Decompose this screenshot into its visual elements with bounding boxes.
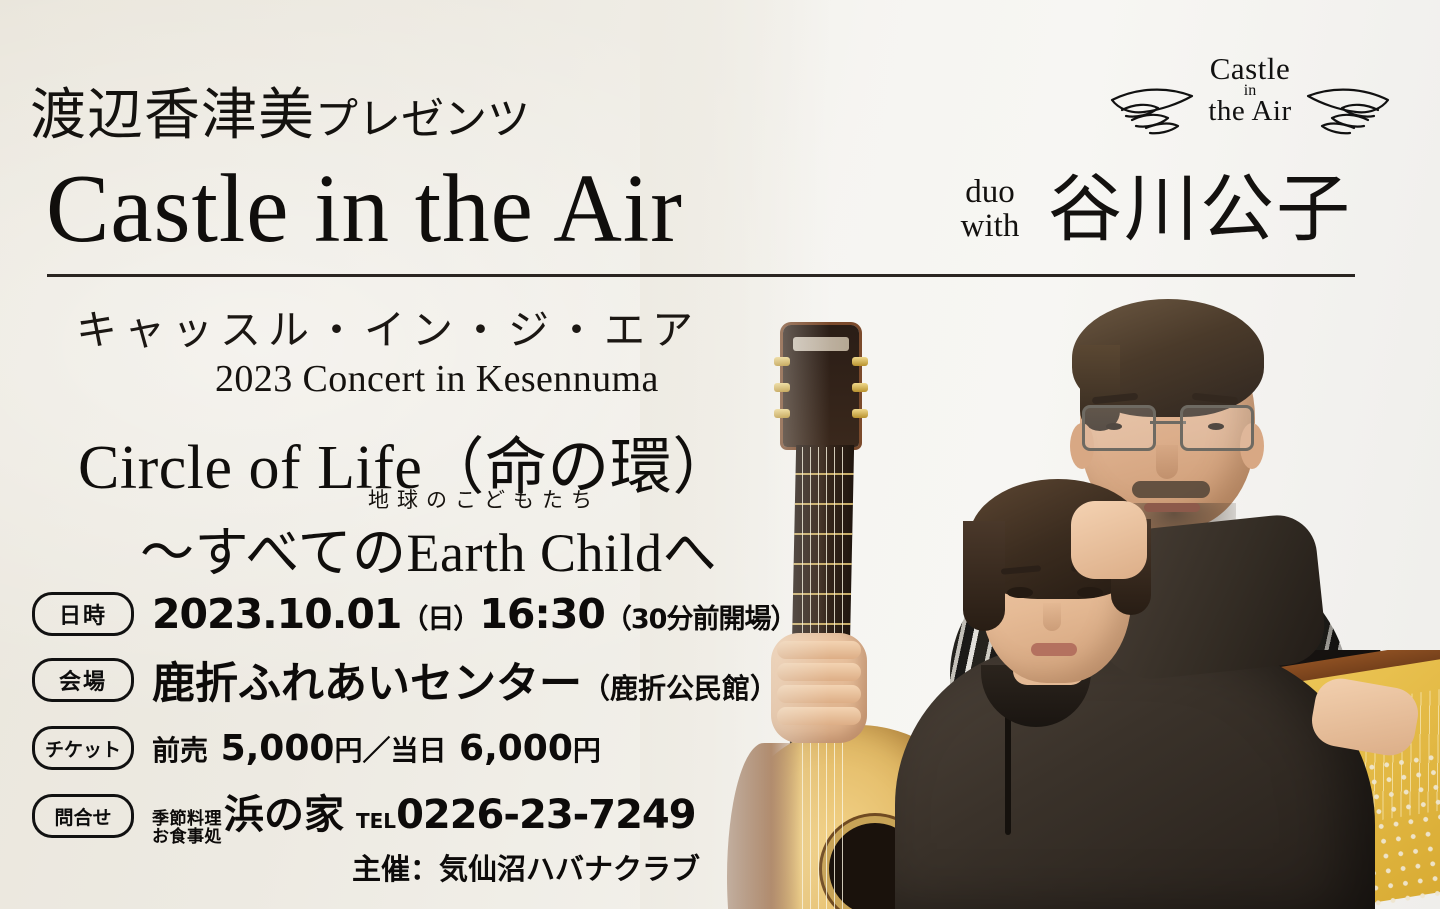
venue-value: 鹿折ふれあいセンター（鹿折公民館） (152, 649, 778, 711)
organizer-line: 主催：気仙沼ハバナクラブ (352, 846, 700, 888)
advance-yen: 円／ (334, 734, 390, 767)
door-price: 6,000 (459, 728, 573, 769)
concert-subtitle: 2023 Concert in Kesennuma (215, 357, 659, 401)
detail-row-venue: 会場 鹿折ふれあいセンター（鹿折公民館） (32, 656, 752, 704)
event-details: 日時 2023.10.01（日）16:30（30分前開場） 会場 鹿折ふれあいセ… (32, 592, 752, 842)
door-label: 当日 (390, 734, 446, 767)
detail-row-ticket: チケット 前売 5,000円／当日 6,000円 (32, 726, 752, 770)
door-yen: 円 (573, 734, 601, 767)
shop-descriptor-line2: お食事処 (152, 827, 222, 847)
label-ticket: チケット (32, 726, 134, 770)
shop-name: 浜の家 (224, 782, 344, 840)
shop-descriptor-line1: 季節料理 (152, 809, 222, 829)
date-text: 2023.10.01 (152, 590, 401, 638)
castle-logo-text: Castle in the Air (1185, 55, 1315, 125)
label-venue: 会場 (32, 658, 134, 702)
date-time: 16:30 (479, 590, 605, 638)
phone-number[interactable]: 0226-23-7249 (396, 792, 696, 838)
label-date: 日時 (32, 592, 134, 636)
date-weekday: （日） (401, 604, 479, 635)
presenter-line: 渡辺香津美プレゼンツ (30, 70, 530, 151)
duo-with-label: duo with (948, 176, 1032, 243)
advance-price: 5,000 (221, 728, 335, 769)
presents-suffix: プレゼンツ (315, 97, 530, 144)
logo-line-castle: Castle (1185, 55, 1315, 84)
program-subtitle: 〜すべてのEarth Childへ (140, 508, 717, 587)
advance-label: 前売 (152, 734, 208, 767)
date-doors-note: （30分前開場） (605, 604, 797, 635)
venue-name: 鹿折ふれあいセンター (152, 659, 582, 709)
contact-value: 季節料理 お食事処 浜の家 TEL 0226-23-7249 (152, 782, 696, 851)
venue-alt-name: （鹿折公民館） (582, 672, 778, 705)
shop-descriptor: 季節料理 お食事処 (152, 810, 222, 847)
concert-poster: 渡辺香津美プレゼンツ Castle in the Air duo with 谷川… (0, 0, 1440, 909)
logo-line-theair: the Air (1185, 98, 1315, 125)
poster-content: 渡辺香津美プレゼンツ Castle in the Air duo with 谷川… (0, 0, 1440, 909)
detail-row-contact: 問合せ 季節料理 お食事処 浜の家 TEL 0226-23-7249 (32, 792, 752, 840)
date-value: 2023.10.01（日）16:30（30分前開場） (152, 590, 796, 638)
page-title: Castle in the Air (46, 160, 683, 258)
duo-label: duo (948, 176, 1032, 210)
with-label: with (948, 210, 1032, 244)
katakana-title: キャッスル・イン・ジ・エア (76, 296, 700, 356)
presenter-name: 渡辺香津美 (30, 85, 315, 147)
guest-artist-name: 谷川公子 (1048, 173, 1352, 247)
label-contact: 問合せ (32, 794, 134, 838)
title-divider (47, 274, 1355, 277)
tel-icon: TEL (356, 809, 396, 833)
detail-row-date: 日時 2023.10.01（日）16:30（30分前開場） (32, 592, 752, 636)
ticket-value: 前売 5,000円／当日 6,000円 (152, 728, 601, 769)
